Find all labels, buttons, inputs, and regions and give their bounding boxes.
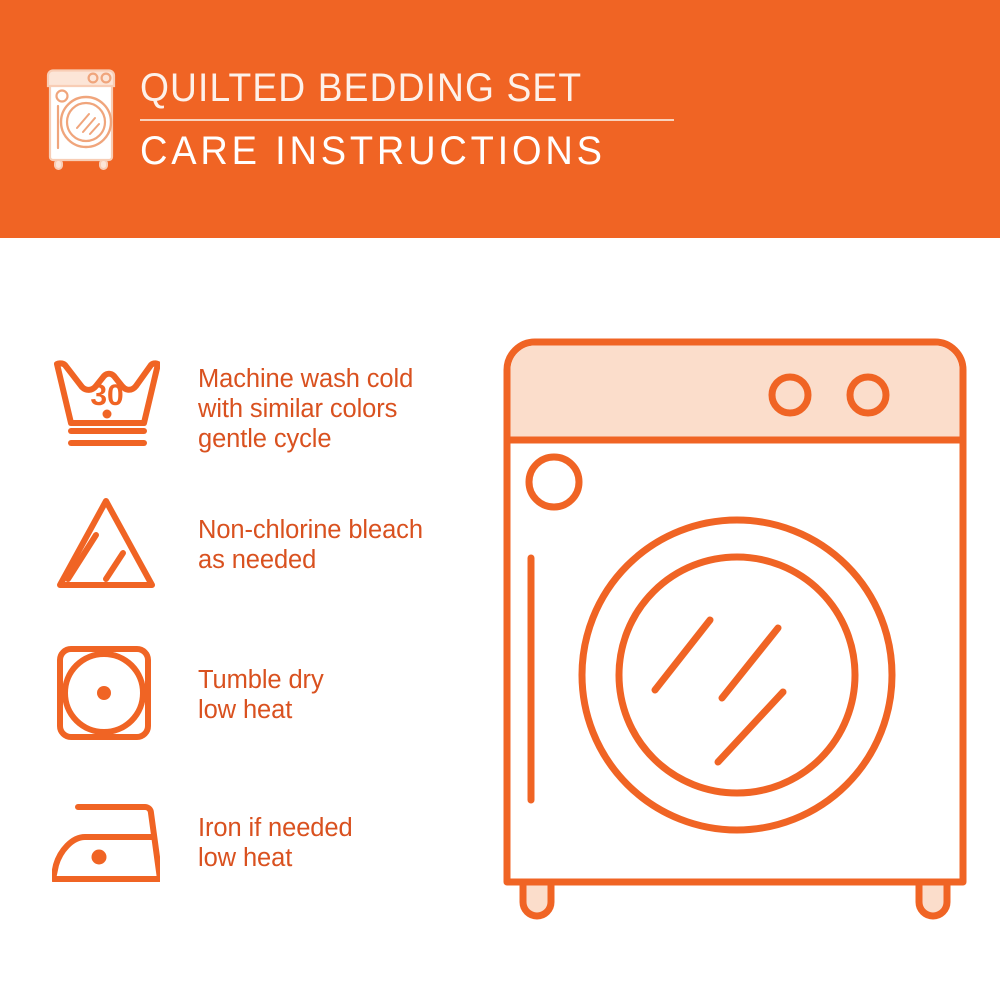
care-line: with similar colors	[198, 394, 413, 424]
header-title-block: QUILTED BEDDING SET CARE INSTRUCTIONS	[140, 62, 674, 173]
care-item-text: Tumble dry low heat	[198, 643, 324, 725]
leg-right	[919, 882, 947, 916]
care-line: Machine wash cold	[198, 364, 413, 394]
tumble-dry-square-icon	[52, 643, 160, 747]
care-line: Tumble dry	[198, 665, 324, 695]
header-banner: QUILTED BEDDING SET CARE INSTRUCTIONS	[0, 0, 1000, 238]
care-item-tumble-dry: Tumble dry low heat	[52, 643, 482, 747]
iron-icon	[52, 793, 160, 897]
non-chlorine-bleach-triangle-icon	[52, 493, 160, 597]
page-title: QUILTED BEDDING SET	[140, 66, 637, 110]
machine-wash-tub-icon: 30	[52, 350, 160, 454]
wash-temperature-label: 30	[90, 379, 123, 412]
care-line: Non-chlorine bleach	[198, 515, 423, 545]
care-line: low heat	[198, 843, 353, 873]
title-divider	[140, 119, 674, 121]
page-subtitle: CARE INSTRUCTIONS	[140, 129, 647, 173]
front-load-washing-machine-illustration	[490, 330, 980, 930]
care-item-text: Machine wash cold with similar colors ge…	[198, 350, 413, 454]
control-panel	[511, 346, 960, 441]
care-instructions-list: 30 Machine wash cold with similar colors…	[0, 238, 480, 1000]
care-item-text: Iron if needed low heat	[198, 793, 353, 873]
care-item-text: Non-chlorine bleach as needed	[198, 493, 423, 575]
care-line: as needed	[198, 545, 423, 575]
leg-left	[523, 882, 551, 916]
care-item-bleach: Non-chlorine bleach as needed	[52, 493, 482, 597]
care-line: low heat	[198, 695, 324, 725]
washing-machine-icon	[44, 62, 122, 172]
care-item-iron: Iron if needed low heat	[52, 793, 482, 897]
header-content: QUILTED BEDDING SET CARE INSTRUCTIONS	[44, 62, 674, 173]
care-line: Iron if needed	[198, 813, 353, 843]
care-item-machine-wash: 30 Machine wash cold with similar colors…	[52, 350, 482, 454]
care-line: gentle cycle	[198, 424, 413, 454]
